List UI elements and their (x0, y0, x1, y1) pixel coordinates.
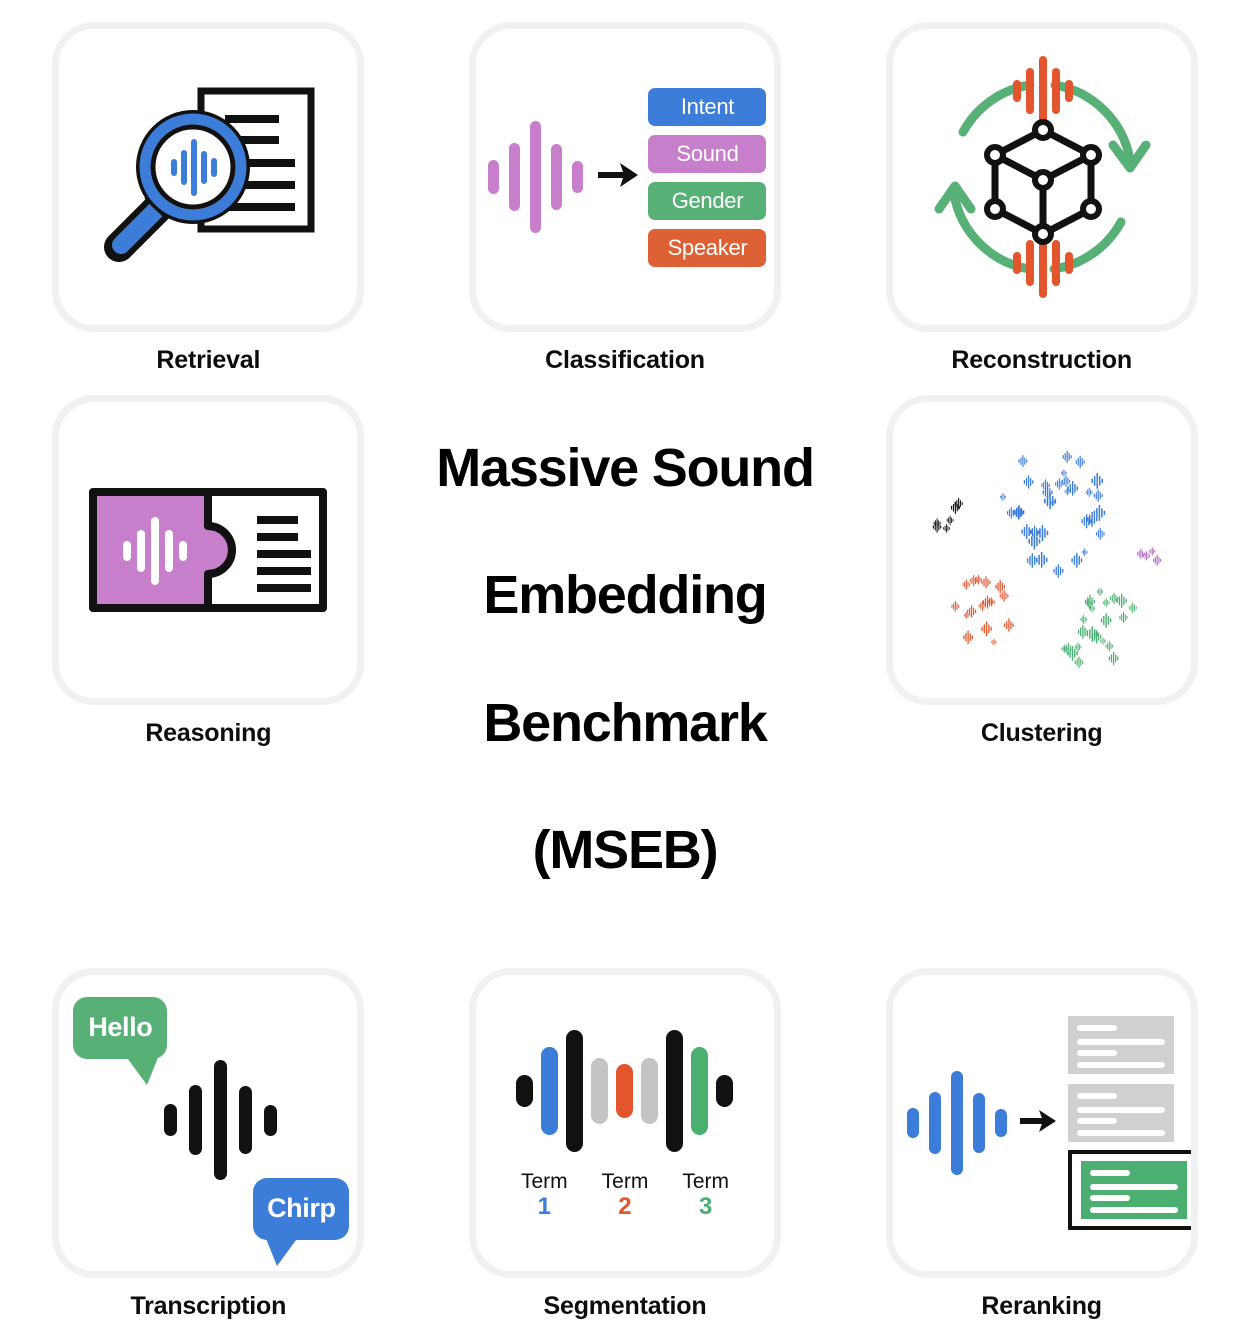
segment-term-1: Term 1 (521, 1170, 568, 1220)
cluster-waveform-dot (1085, 488, 1092, 497)
card-segmentation[interactable]: Term 1 Term 2 Term 3 (469, 968, 781, 1278)
card-label-reasoning: Reasoning (145, 721, 271, 746)
cluster-waveform-dot (1081, 548, 1087, 556)
speech-bubble-chirp: Chirp (253, 1178, 349, 1240)
chip-gender[interactable]: Gender (648, 182, 766, 220)
center-title-cell: Massive Sound Embedding Benchmark (MSEB) (417, 373, 834, 946)
card-label-clustering: Clustering (981, 721, 1103, 746)
cluster-waveform-dot (1119, 612, 1127, 623)
cluster-waveform-dot (1137, 549, 1144, 559)
cluster-waveform-dot (1103, 598, 1110, 607)
cluster-waveform-dot (1053, 564, 1063, 578)
cluster-waveform-dot (1100, 613, 1111, 628)
waveform-segments-icon: Term 1 Term 2 Term 3 (512, 1026, 737, 1220)
cluster-waveform-dot (1075, 456, 1084, 469)
title-line-1: Massive Sound (436, 437, 814, 501)
cluster-waveform-dot (1105, 641, 1113, 652)
term-label: Term (521, 1170, 568, 1194)
cluster-waveform-dot (999, 590, 1008, 602)
chip-label: Gender (672, 188, 744, 214)
chip-intent[interactable]: Intent (648, 88, 766, 126)
chip-speaker[interactable]: Speaker (648, 229, 766, 267)
cluster-waveform-dot (967, 605, 976, 617)
card-retrieval[interactable] (52, 22, 364, 332)
card-classification[interactable]: Intent Sound Gender Speaker (469, 22, 781, 332)
result-document-2[interactable] (1068, 1084, 1174, 1142)
card-label-transcription: Transcription (130, 1294, 286, 1319)
cluster-waveform-dot (1071, 553, 1082, 568)
cluster-waveform-dot (1091, 473, 1103, 489)
card-cell-reasoning: Reasoning (0, 373, 417, 946)
waveform-ranked-documents-icon (902, 1016, 1182, 1230)
card-transcription[interactable]: Hello Chirp (52, 968, 364, 1278)
arrow-right-icon (1018, 1107, 1058, 1140)
cluster-waveform-dot (1080, 615, 1087, 624)
speech-bubble-hello: Hello (73, 997, 167, 1059)
card-label-classification: Classification (545, 348, 705, 373)
waveform-purple (483, 112, 588, 242)
cluster-waveform-dot (1063, 643, 1072, 656)
term-number: 3 (699, 1194, 712, 1221)
card-cell-transcription: Hello Chirp (0, 946, 417, 1319)
card-cell-reconstruction: Reconstruction (833, 0, 1250, 373)
segmented-waveform (512, 1026, 737, 1156)
cluster-waveform-dot (1129, 602, 1137, 613)
card-reranking[interactable] (886, 968, 1198, 1278)
term-number: 2 (618, 1194, 631, 1221)
cluster-waveform-dot (1108, 652, 1118, 665)
card-cell-reranking: Reranking (833, 946, 1250, 1319)
chip-label: Speaker (668, 235, 748, 261)
card-label-reranking: Reranking (981, 1294, 1101, 1319)
card-reconstruction[interactable] (886, 22, 1198, 332)
segment-term-2: Term 2 (602, 1170, 649, 1220)
cluster-waveform-dot (1093, 489, 1102, 501)
card-label-retrieval: Retrieval (156, 348, 260, 373)
cluster-waveform-dot (981, 576, 990, 588)
cluster-waveform-dot (1018, 455, 1027, 467)
cluster-waveform-dot (962, 579, 970, 589)
card-cell-segmentation: Term 1 Term 2 Term 3 Segmentation (417, 946, 834, 1319)
cluster-waveform-dot (1149, 547, 1155, 556)
card-cell-retrieval: Retrieval (0, 0, 417, 373)
chip-label: Sound (676, 141, 738, 167)
cluster-waveform-dot (1153, 555, 1161, 566)
cluster-waveform-dot (1004, 618, 1014, 631)
cluster-waveform-dot (991, 639, 996, 646)
segmentation-term-list: Term 1 Term 2 Term 3 (521, 1170, 729, 1220)
arrow-right-icon (596, 160, 640, 195)
segment-term-3: Term 3 (682, 1170, 729, 1220)
cluster-waveform-dot (1074, 656, 1083, 668)
waveform-speech-bubbles-icon: Hello Chirp (73, 991, 343, 1256)
waveform-blue (902, 1063, 1012, 1183)
term-number: 1 (538, 1194, 551, 1221)
card-clustering[interactable] (886, 395, 1198, 705)
result-document-3-top[interactable] (1081, 1161, 1187, 1219)
mseb-overview-board: Retrieval (0, 0, 1250, 1197)
cluster-waveform-dot (946, 516, 953, 525)
result-document-1[interactable] (1068, 1016, 1174, 1074)
cluster-waveform-dot (981, 622, 991, 637)
title-line-3: Benchmark (436, 692, 814, 756)
top-result-highlight-box (1068, 1150, 1198, 1230)
page-title: Massive Sound Embedding Benchmark (MSEB) (436, 373, 814, 946)
cluster-waveform-dot (963, 630, 973, 644)
cluster-waveform-dot (1078, 625, 1088, 639)
card-cell-clustering: Clustering (833, 373, 1250, 946)
cluster-waveform-dot (1116, 594, 1126, 608)
title-line-4: (MSEB) (436, 819, 814, 883)
cluster-waveform-dot (1062, 451, 1071, 464)
cluster-waveform-dot (1023, 475, 1033, 488)
chip-label: Intent (681, 94, 734, 120)
card-label-reconstruction: Reconstruction (951, 348, 1132, 373)
classification-chip-list: Intent Sound Gender Speaker (648, 88, 766, 267)
cluster-waveform-dot (1074, 642, 1081, 651)
term-label: Term (602, 1170, 649, 1194)
term-label: Term (682, 1170, 729, 1194)
puzzle-waveform-document-icon (89, 488, 327, 612)
cluster-waveform-dot (1096, 528, 1105, 540)
card-label-segmentation: Segmentation (544, 1294, 707, 1319)
waveform-arrow-labels-icon: Intent Sound Gender Speaker (483, 88, 766, 267)
waveform-black (158, 1053, 283, 1188)
cluster-waveform-dot (1091, 630, 1101, 644)
cluster-waveform-dot (1093, 505, 1104, 521)
waveform-cluster-scatter-icon (902, 415, 1182, 685)
speech-bubble-label: Hello (88, 1012, 152, 1043)
cube-cycle-waveform-icon (917, 52, 1167, 302)
card-cell-classification: Intent Sound Gender Speaker Classificati… (417, 0, 834, 373)
cluster-waveform-dot (1000, 493, 1006, 501)
cluster-waveform-dot (1041, 479, 1050, 491)
speech-bubble-label: Chirp (267, 1193, 336, 1224)
magnifier-document-waveform-icon (83, 77, 333, 277)
ranked-document-list (1068, 1016, 1198, 1230)
cluster-waveform-dot (1096, 587, 1102, 596)
cluster-waveform-dot (943, 524, 949, 533)
title-line-2: Embedding (436, 564, 814, 628)
cluster-waveform-dot (951, 601, 959, 612)
cluster-waveform-dot (964, 612, 969, 620)
card-reasoning[interactable] (52, 395, 364, 705)
chip-sound[interactable]: Sound (648, 135, 766, 173)
